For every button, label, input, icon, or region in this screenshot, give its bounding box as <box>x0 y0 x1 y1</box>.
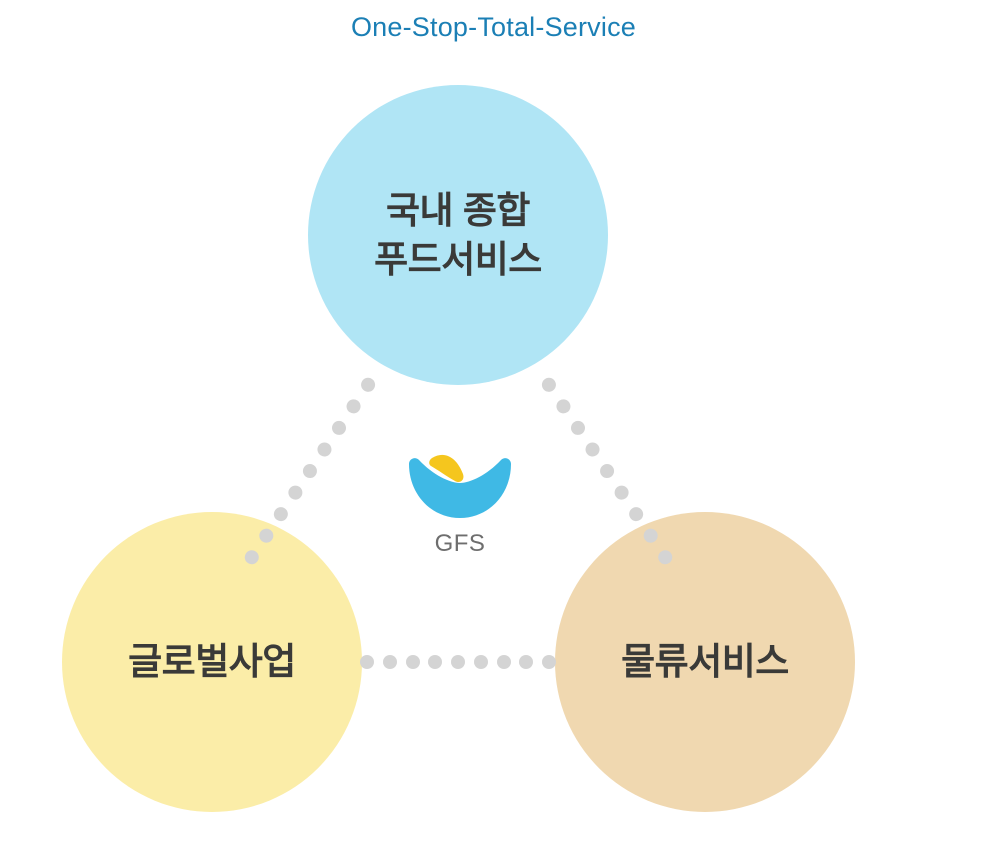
connector-food-to-global <box>242 375 378 567</box>
connector-dot <box>271 504 290 523</box>
node-label-food-service: 국내 종합 푸드서비스 <box>374 186 542 284</box>
connector-dot <box>626 504 645 523</box>
connector-dot <box>539 375 558 394</box>
connector-dot <box>360 655 374 669</box>
connector-global-to-logistics <box>360 655 556 669</box>
connector-dot <box>428 655 442 669</box>
connector-dot <box>497 655 511 669</box>
connector-dot <box>315 440 334 459</box>
connector-dot <box>519 655 533 669</box>
gfs-logo-label: GFS <box>435 530 486 558</box>
connector-dot <box>451 655 465 669</box>
connector-dot <box>300 461 319 480</box>
connector-dot <box>597 461 616 480</box>
connector-dot <box>406 655 420 669</box>
connector-dot <box>583 440 602 459</box>
gfs-bowl-icon <box>405 452 515 522</box>
diagram-node-logistics-service: 물류서비스 <box>555 512 855 812</box>
diagram-node-food-service: 국내 종합 푸드서비스 <box>308 85 608 385</box>
node-label-global-business: 글로벌사업 <box>128 637 296 686</box>
connector-food-to-logistics <box>539 375 675 567</box>
diagram-canvas: One-Stop-Total-Service 국내 종합 푸드서비스 글로벌사업… <box>0 0 987 856</box>
connector-dot <box>329 418 348 437</box>
connector-dot <box>358 375 377 394</box>
connector-dot <box>286 483 305 502</box>
gfs-logo: GFS <box>399 452 521 558</box>
connector-dot <box>568 418 587 437</box>
connector-dot <box>383 655 397 669</box>
page-title: One-Stop-Total-Service <box>0 12 987 43</box>
connector-dot <box>612 483 631 502</box>
connector-dot <box>474 655 488 669</box>
connector-dot <box>344 397 363 416</box>
connector-dot <box>542 655 556 669</box>
connector-dot <box>554 397 573 416</box>
node-label-logistics-service: 물류서비스 <box>621 637 789 686</box>
diagram-node-global-business: 글로벌사업 <box>62 512 362 812</box>
